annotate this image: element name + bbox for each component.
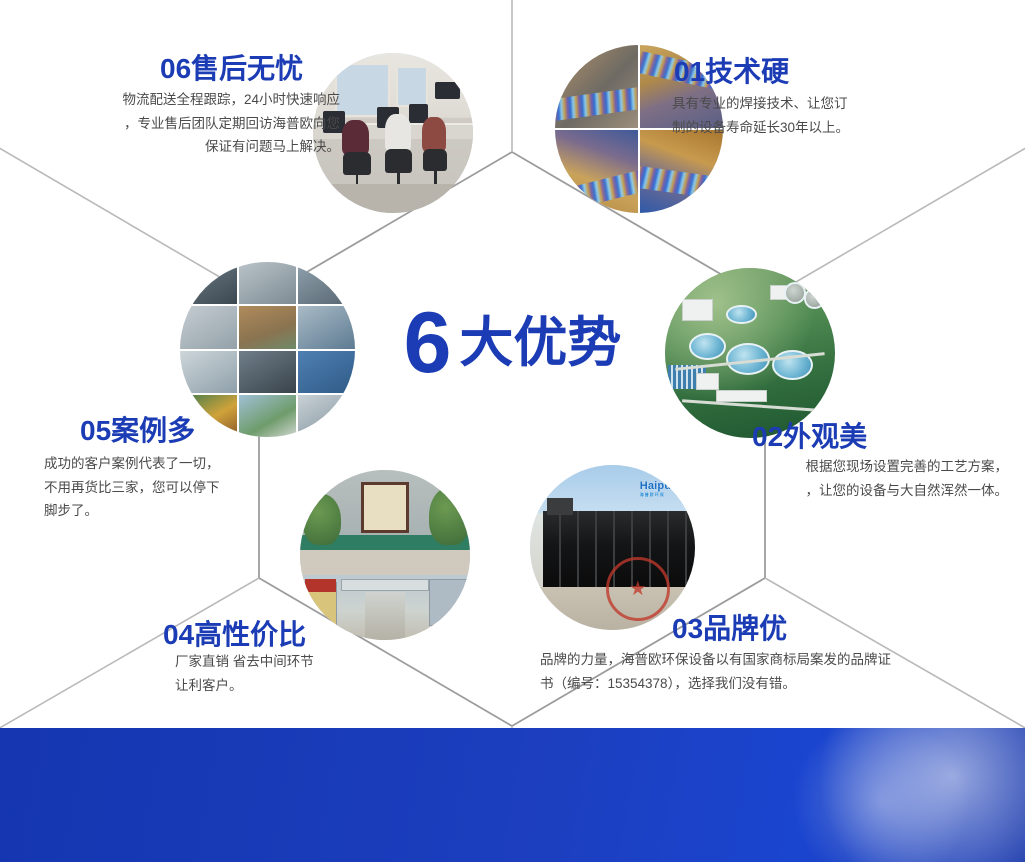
infographic-stage: 6 大优势 [0,0,1025,862]
advantage-heading-02: 02外观美 [752,415,867,455]
advantage-heading-03: 03品牌优 [672,607,787,647]
center-number: 6 [404,300,450,386]
bottom-banner: 专业从事污水处理设备的研制、生产和销售的高新技术企业，产品行销全国并 远销欧美，… [0,728,1025,862]
advantage-description-06: 物流配送全程跟踪，24小时快速响应 ，专业售后团队定期回访海普欧向您 保证有问题… [10,88,340,159]
trademark-stamp: ★ [606,557,670,621]
weld-tile-4 [640,130,723,213]
weld-tile-3 [555,130,638,213]
photo-circle-05-case-collage [180,262,355,437]
advantage-description-02: 根据您现场设置完善的工艺方案， ，让您的设备与大自然浑然一体。 [648,455,1008,502]
center-label: 6 大优势 [380,288,645,398]
photo-circle-02-aerial-plant [665,268,835,438]
advantage-heading-01: 01技术硬 [674,50,789,90]
advantage-description-03: 品牌的力量，海普欧环保设备以有国家商标局案发的品牌证 书（编号：15354378… [540,648,958,695]
advantage-heading-04: 04高性价比 [163,613,306,653]
weld-tile-1 [555,45,638,128]
advantage-description-01: 具有专业的焊接技术、让您订 制的设备寿命延长30年以上。 [672,92,1002,139]
center-text: 大优势 [459,316,621,370]
advantage-description-05: 成功的客户案例代表了一切， 不用再货比三家，您可以停下 脚步了。 [44,452,344,523]
advantage-heading-05: 05案例多 [80,409,195,449]
advantage-heading-06: 06售后无忧 [160,47,303,87]
advantage-description-04: 厂家直销 省去中间环节 让利客户。 [175,650,495,697]
